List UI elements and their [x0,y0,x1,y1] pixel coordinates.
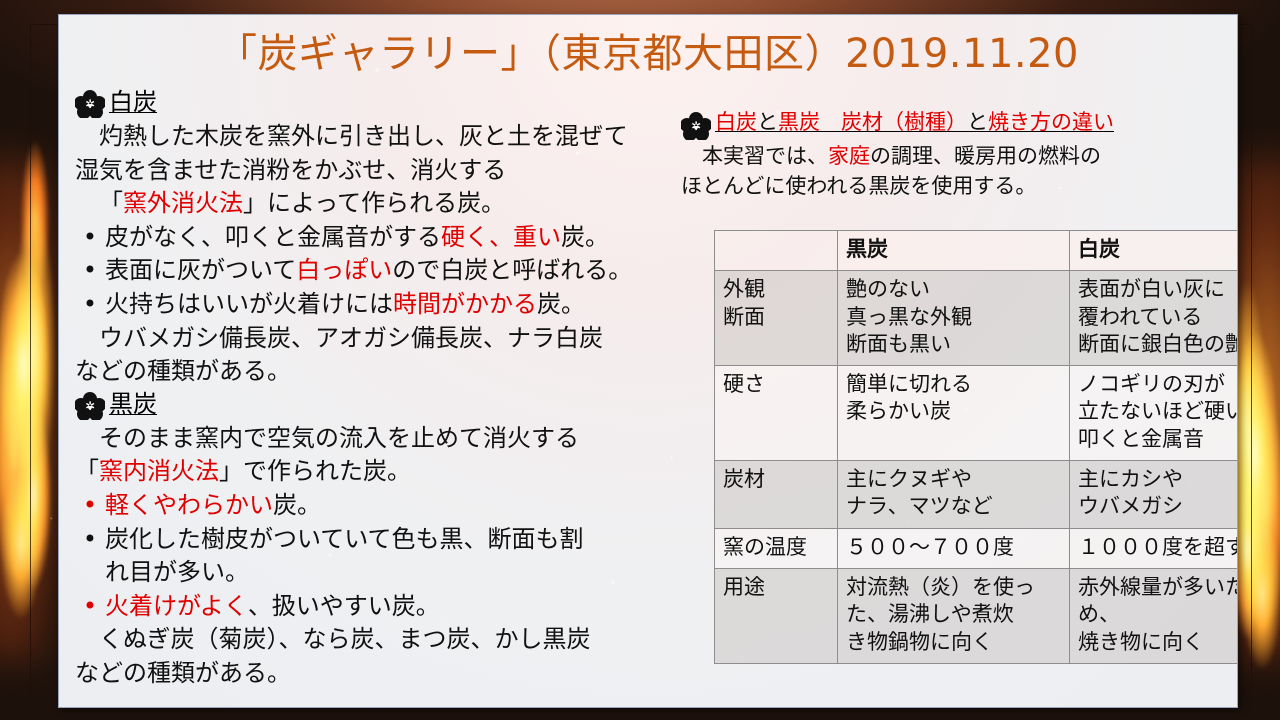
right-column: ✲ 白炭と黒炭 炭材（樹種）と焼き方の違い 本実習では、家庭の調理、暖房用の燃料… [681,111,1233,202]
flame-decoration-left [0,0,62,720]
text-part-red: 時間がかかる [393,290,537,318]
cell-line: 焼き物に向く [1078,629,1238,656]
cell-line: 断面も黒い [846,331,1061,358]
list-item: • 火持ちはいいが火着けには時間がかかる炭。 [75,288,675,322]
content-panel: 「炭ギャラリー」（東京都大田区）2019.11.20 ✲ [58,14,1238,708]
cell-hakutan: 主にカシや ウバメガシ [1070,461,1239,529]
label-line: 用途 [723,574,829,601]
cell-line: 艶のない [846,276,1061,303]
text-part: 皮がなく、叩くと金属音がする [105,223,441,251]
label-line: 外観 [723,276,829,303]
table-row: 窯の温度 ５００～７００度 １０００度を超す [715,528,1239,568]
cell-hakutan: 赤外線量が多いため、 焼き物に向く [1070,568,1239,663]
label-line: 断面 [723,304,829,331]
list-item-text: 表面に灰がついて白っぽいので白炭と呼ばれる。 [105,254,675,288]
comparison-intro-line-2: ほとんどに使われる黒炭を使用する。 [681,172,1233,202]
svg-text:✲: ✲ [691,119,701,133]
cell-line: １０００度を超す [1078,534,1238,561]
cell-line: ナラ、マツなど [846,493,1061,520]
table-header-blank [715,231,838,271]
heading-part: と [967,110,988,134]
cell-line: 断面に銀白色の艶 [1078,331,1238,358]
row-label: 用途 [715,568,838,663]
cell-line: 立たないほど硬い [1078,398,1238,425]
quote-close: 」によって作られる炭。 [243,189,505,217]
slide-root: 「炭ギャラリー」（東京都大田区）2019.11.20 ✲ [0,0,1280,720]
cell-line: き物鍋物に向く [846,629,1061,656]
cell-line: ５００～７００度 [846,534,1061,561]
hakutan-types-2: などの種類がある。 [75,355,675,389]
text-part-red: 火着けがよく [105,592,248,620]
flame-shape [0,330,38,580]
text-part: 炭。 [561,223,609,251]
flame-shape [16,400,52,590]
heading-label: 黒炭 [109,391,157,418]
comparison-intro-line-1: 本実習では、家庭の調理、暖房用の燃料の [681,142,1233,172]
flame-shape [0,250,50,480]
left-column: ✲ 白炭 灼熱した木炭を窯外に引き出し、灰と土を混ぜて 湿気を含ませた消粉をかぶ… [75,89,675,691]
heading-part-red: 白炭 [715,110,757,134]
flame-shape [0,470,42,620]
text-part: 炭化した樹皮がついていて色も黒、断面も割 [105,525,584,553]
cell-kokutan: 艶のない 真っ黒な外観 断面も黒い [838,271,1070,366]
quote-open: 「 [75,457,99,485]
table-row: 用途 対流熱（炎）を使っ た、湯沸しや煮炊 き物鍋物に向く 赤外線量が多いため、… [715,568,1239,663]
method-term: 窯外消火法 [123,189,243,217]
method-term: 窯内消火法 [99,457,219,485]
flower-bullet-icon: ✲ [75,392,105,420]
table-header-kokutan: 黒炭 [838,231,1070,271]
text-part: ので白炭と呼ばれる。 [392,256,632,284]
table-header-row: 黒炭 白炭 [715,231,1239,271]
list-item-text: 火着けがよく、扱いやすい炭。 [105,590,675,624]
cell-line: 赤外線量が多いため、 [1078,574,1238,629]
comparison-table: 黒炭 白炭 外観 断面 艶のない 真っ黒な外観 断面も黒い 表面が白い灰に [714,230,1238,664]
list-item: • 表面に灰がついて白っぽいので白炭と呼ばれる。 [75,254,675,288]
text-part: 炭。 [537,290,585,318]
kokutan-method-line: 「窯内消火法」で作られた炭。 [75,455,675,489]
table-row: 炭材 主にクヌギや ナラ、マツなど 主にカシや ウバメガシ [715,461,1239,529]
text-part: 火持ちはいいが火着けには [105,290,393,318]
cell-kokutan: 簡単に切れる 柔らかい炭 [838,366,1070,461]
list-item: • 炭化した樹皮がついていて色も黒、断面も割 [75,523,675,557]
list-item-continuation: れ目が多い。 [75,556,675,590]
cell-hakutan: 表面が白い灰に 覆われている 断面に銀白色の艶 [1070,271,1239,366]
list-item-text: 炭化した樹皮がついていて色も黒、断面も割 [105,523,675,557]
cell-line: 真っ黒な外観 [846,304,1061,331]
label-line: 炭材 [723,466,829,493]
flame-shape [20,140,50,300]
hakutan-types-1: ウバメガシ備長炭、アオガシ備長炭、ナラ白炭 [75,322,675,356]
cell-line: 対流熱（炎）を使っ [846,574,1061,601]
cell-line: 叩くと金属音 [1078,426,1238,453]
cell-line: 覆われている [1078,304,1238,331]
cell-line: ウバメガシ [1078,493,1238,520]
bullet-dot-icon: • [75,221,105,255]
hakutan-paragraph-1: 灼熱した木炭を窯外に引き出し、灰と土を混ぜて [75,120,675,154]
svg-text:✲: ✲ [85,399,95,413]
heading-label: 白炭 [109,89,157,116]
quote-open: 「 [99,189,123,217]
bullet-dot-icon: • [75,254,105,288]
section-heading-kokutan: ✲ 黒炭 [75,391,675,420]
table-row: 外観 断面 艶のない 真っ黒な外観 断面も黒い 表面が白い灰に 覆われている 断… [715,271,1239,366]
cell-line: た、湯沸しや煮炊 [846,601,1061,628]
text-part-red: 家庭 [828,144,870,168]
cell-line: 表面が白い灰に [1078,276,1238,303]
section-heading-comparison: ✲ 白炭と黒炭 炭材（樹種）と焼き方の違い [681,111,1233,140]
cell-kokutan: 対流熱（炎）を使っ た、湯沸しや煮炊 き物鍋物に向く [838,568,1070,663]
bullet-dot-icon: • [75,489,105,523]
flame-shape [1242,400,1280,630]
table-header-hakutan: 白炭 [1070,231,1239,271]
cell-kokutan: ５００～７００度 [838,528,1070,568]
cell-hakutan: １０００度を超す [1070,528,1239,568]
table-row: 硬さ 簡単に切れる 柔らかい炭 ノコギリの刃が 立たないほど硬い 叩くと金属音 [715,366,1239,461]
quote-close: 」で作られた炭。 [219,457,411,485]
list-item: • 軽くやわらかい炭。 [75,489,675,523]
cell-line: ノコギリの刃が [1078,371,1238,398]
kokutan-types-1: くぬぎ炭（菊炭）、なら炭、まつ炭、かし黒炭 [75,623,675,657]
row-label: 炭材 [715,461,838,529]
cell-hakutan: ノコギリの刃が 立たないほど硬い 叩くと金属音 [1070,366,1239,461]
row-label: 硬さ [715,366,838,461]
text-part: の調理、暖房用の燃料の [870,144,1101,168]
list-item-text: 軽くやわらかい炭。 [105,489,675,523]
text-part-red: 硬く、重い [441,223,561,251]
label-line: 窯の温度 [723,534,829,561]
cell-line: 主にクヌギや [846,466,1061,493]
flower-bullet-icon: ✲ [75,90,105,118]
kokutan-paragraph-1: そのまま窯内で空気の流入を止めて消火する [75,422,675,456]
text-part: 炭。 [273,491,321,519]
heading-part: と [757,110,778,134]
heading-part-red: 焼き方の違い [988,110,1114,134]
hakutan-method-line: 「窯外消火法」によって作られる炭。 [75,187,675,221]
bullet-dot-icon: • [75,590,105,624]
cell-line: 簡単に切れる [846,371,1061,398]
svg-text:✲: ✲ [85,97,95,111]
list-item: • 皮がなく、叩くと金属音がする硬く、重い炭。 [75,221,675,255]
bullet-dot-icon: • [75,288,105,322]
text-part-red: 白っぽい [296,256,392,284]
heading-label: 白炭と黒炭 炭材（樹種）と焼き方の違い [715,111,1114,135]
label-line: 硬さ [723,371,829,398]
text-part: 表面に灰がついて [105,256,296,284]
cell-line: 柔らかい炭 [846,398,1061,425]
heading-part-red: 黒炭 炭材（樹種） [778,110,967,134]
list-item-text: 皮がなく、叩くと金属音がする硬く、重い炭。 [105,221,675,255]
flame-shape [1242,520,1280,670]
kokutan-types-2: などの種類がある。 [75,657,675,691]
flower-bullet-icon: ✲ [681,112,711,140]
bullet-dot-icon: • [75,523,105,557]
row-label: 窯の温度 [715,528,838,568]
slide-title: 「炭ギャラリー」（東京都大田区）2019.11.20 [59,31,1237,77]
list-item: • 火着けがよく、扱いやすい炭。 [75,590,675,624]
section-heading-hakutan: ✲ 白炭 [75,89,675,118]
text-part: 、扱いやすい炭。 [248,592,440,620]
flame-glow-left [0,158,56,662]
text-part: 本実習では、 [702,144,828,168]
cell-kokutan: 主にクヌギや ナラ、マツなど [838,461,1070,529]
hakutan-paragraph-2: 湿気を含ませた消粉をかぶせ、消火する [75,154,675,188]
list-item-text: れ目が多い。 [105,556,675,590]
text-part-red: 軽くやわらかい [105,491,273,519]
flame-shape [12,200,56,500]
cell-line: 主にカシや [1078,466,1238,493]
row-label: 外観 断面 [715,271,838,366]
list-item-text: 火持ちはいいが火着けには時間がかかる炭。 [105,288,675,322]
